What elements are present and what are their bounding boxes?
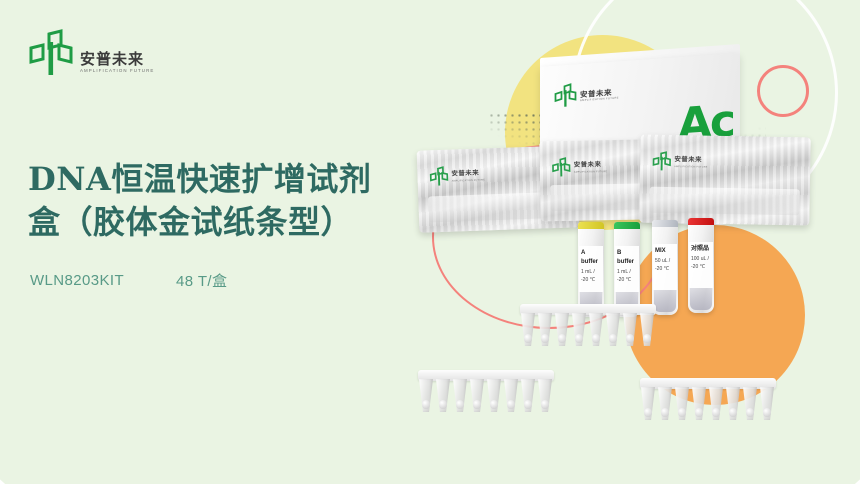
vial-label-name: 对照品 (691, 245, 711, 254)
page-title: DNA恒温快速扩增试剂 盒（胶体金试纸条型） (28, 158, 428, 244)
vial-label-name: MIX (655, 247, 675, 256)
vial-label: 对照品 100 uL / -20 ℃ (689, 242, 713, 288)
vial-liquid (690, 288, 712, 310)
pcr-tube (708, 378, 724, 420)
pcr-tube-pellet (490, 400, 498, 409)
pcr-tube (452, 370, 468, 412)
reagent-vial: B buffer 1 mL / -20 ℃ (614, 222, 640, 317)
foil-pouch-brand-cn: 安普未来 (674, 157, 708, 164)
pcr-tube (554, 304, 570, 346)
reagent-vial: A buffer 1 mL / -20 ℃ (578, 222, 604, 317)
pcr-tube (725, 378, 741, 420)
foil-pouch-brand-cn: 安普未来 (451, 171, 485, 179)
pcr-tube (605, 304, 621, 346)
pcr-tube (622, 304, 638, 346)
sprout-logo-icon (652, 151, 671, 171)
vial-cap (688, 218, 714, 225)
foil-pouch-logo: 安普未来 AMPLIFICATION FUTURE (652, 151, 708, 172)
pcr-tube-pellet (507, 400, 515, 409)
brand-name-en: AMPLIFICATION FUTURE (80, 69, 154, 73)
pcr-tube (503, 370, 519, 412)
pcr-tube-pellet (712, 408, 720, 417)
pcr-tube-pellet (575, 334, 583, 343)
sprout-logo-icon (28, 28, 74, 76)
vial-label: A buffer 1 mL / -20 ℃ (579, 246, 603, 292)
pcr-tube-pellet (661, 408, 669, 417)
pcr-tube-pellet (626, 334, 634, 343)
pcr-tube-pellet (422, 400, 430, 409)
pcr-tube-pellet (541, 400, 549, 409)
vial-label-detail: 1 mL / -20 ℃ (617, 269, 631, 283)
vial-label: B buffer 1 mL / -20 ℃ (615, 246, 639, 292)
pcr-tube-strip (418, 370, 554, 412)
foil-pouch: 安普未来 AMPLIFICATION FUTURE (639, 135, 811, 226)
pcr-tube-pellet (541, 334, 549, 343)
vial-cap (652, 220, 678, 227)
pcr-tube (639, 304, 655, 346)
pcr-tube (691, 378, 707, 420)
page-title-line2: 盒（胶体金试纸条型） (28, 201, 428, 244)
page-title-line1: DNA恒温快速扩增试剂 (28, 158, 428, 201)
reagent-vial: 对照品 100 uL / -20 ℃ (688, 218, 714, 313)
foil-pouch-logo: 安普未来 AMPLIFICATION FUTURE (429, 164, 485, 186)
pcr-tube (435, 370, 451, 412)
foil-pouch-brand-en: AMPLIFICATION FUTURE (574, 171, 607, 174)
brand-logo: 安普未来 AMPLIFICATION FUTURE (28, 28, 154, 76)
pcr-tube (657, 378, 673, 420)
vial-label-name: B buffer (617, 249, 637, 267)
pcr-tube-strip (640, 378, 776, 420)
pcr-tube-pellet (609, 334, 617, 343)
pcr-tube-pellet (746, 408, 754, 417)
sprout-logo-icon (552, 157, 571, 177)
product-banner: 安普未来 AMPLIFICATION FUTURE DNA恒温快速扩增试剂 盒（… (0, 0, 860, 484)
product-box-logo: 安普未来 AMPLIFICATION FUTURE (554, 79, 619, 108)
sprout-logo-icon (429, 166, 449, 187)
pcr-tube-pellet (524, 334, 532, 343)
vial-liquid (654, 290, 676, 312)
pcr-tube-strip (520, 304, 656, 346)
pcr-tube-pellet (558, 334, 566, 343)
pcr-tube (588, 304, 604, 346)
pcr-tube-pellet (456, 400, 464, 409)
pcr-tube-pellet (763, 408, 771, 417)
vial-cap (614, 222, 640, 229)
foil-pouch-brand-cn: 安普未来 (574, 162, 608, 169)
pcr-tube (537, 304, 553, 346)
pcr-tube (640, 378, 656, 420)
foil-pouch-window (649, 187, 799, 216)
foil-pouch-brand-en: AMPLIFICATION FUTURE (452, 179, 485, 182)
reagent-vial: MIX 50 uL / -20 ℃ (652, 220, 678, 315)
pcr-tube-pellet (524, 400, 532, 409)
pcr-tube-pellet (644, 408, 652, 417)
pcr-tube-pellet (473, 400, 481, 409)
pcr-tube-pellet (643, 334, 651, 343)
pcr-tube (674, 378, 690, 420)
pcr-tube (418, 370, 434, 412)
product-photo: 安普未来 AMPLIFICATION FUTURE Ac 安普未来 (400, 40, 840, 460)
pcr-tube-pellet (439, 400, 447, 409)
pcr-tube (759, 378, 775, 420)
product-sku: WLN8203KIT (30, 272, 124, 289)
pcr-tube (742, 378, 758, 420)
vial-label-detail: 50 uL / -20 ℃ (655, 258, 670, 272)
vial-label-detail: 100 uL / -20 ℃ (691, 256, 709, 270)
pcr-tube-pellet (592, 334, 600, 343)
pcr-tube (520, 370, 536, 412)
pcr-tube (537, 370, 553, 412)
pcr-tube (571, 304, 587, 346)
pcr-tube-pellet (678, 408, 686, 417)
pcr-tube-pellet (729, 408, 737, 417)
vial-label-detail: 1 mL / -20 ℃ (581, 269, 595, 283)
pcr-tube (486, 370, 502, 412)
foil-pouch-logo: 安普未来 AMPLIFICATION FUTURE (552, 156, 608, 177)
vial-label: MIX 50 uL / -20 ℃ (653, 244, 677, 290)
vial-cap (578, 222, 604, 229)
product-quantity: 48 T/盒 (176, 270, 227, 291)
product-meta: WLN8203KIT 48 T/盒 (30, 270, 227, 291)
sprout-logo-icon (554, 82, 577, 108)
product-box-brand-en: AMPLIFICATION FUTURE (580, 98, 619, 103)
pcr-tube-pellet (695, 408, 703, 417)
brand-name-cn: 安普未来 (80, 52, 154, 67)
foil-pouch-brand-en: AMPLIFICATION FUTURE (674, 166, 707, 169)
vial-label-name: A buffer (581, 249, 601, 267)
pcr-tube (520, 304, 536, 346)
pcr-tube (469, 370, 485, 412)
